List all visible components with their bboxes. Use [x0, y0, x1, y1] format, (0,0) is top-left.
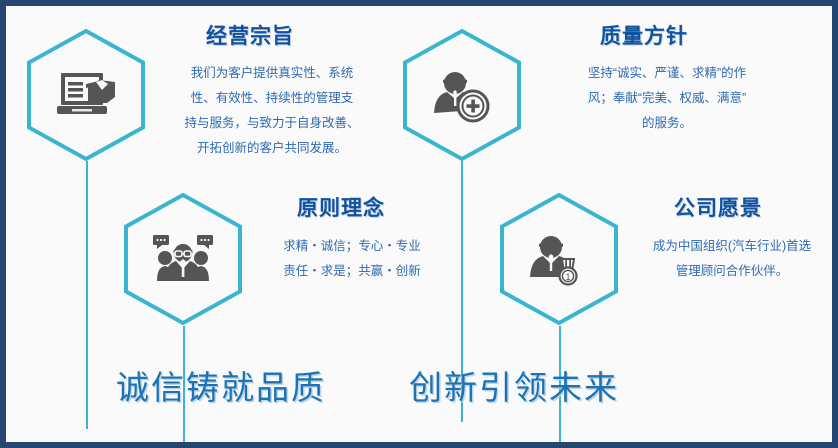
hexagon-quality-policy[interactable] — [400, 28, 524, 162]
infographic-canvas: 经营宗旨 我们为客户提供真实性、系统 性、有效性、持续性的管理支 持与服务，与致… — [0, 0, 838, 448]
slogan-integrity: 诚信铸就品质 — [116, 361, 326, 409]
card-line: 成为中国组织(汽车行业)首选 — [632, 234, 832, 259]
connector-line-1 — [86, 161, 88, 429]
card-line: 责任・求是；共赢・创新 — [252, 259, 452, 284]
card-title-company-vision: 公司愿景 — [674, 192, 762, 222]
card-line: 坚持“诚实、严谨、求精”的作 — [551, 61, 783, 86]
card-line: 持与服务，与致力于自身改善、 — [156, 111, 388, 136]
hexagon-business-purpose[interactable] — [24, 28, 148, 162]
slogan-innovation: 创新引领未来 — [409, 361, 619, 409]
hexagon-company-vision[interactable]: 1 — [497, 192, 621, 326]
card-line: 求精・诚信；专心・专业 — [252, 234, 452, 259]
card-line: 的服务。 — [551, 111, 783, 136]
card-body-principles-philosophy: 求精・诚信；专心・专业 责任・求是；共赢・创新 — [252, 234, 452, 284]
person-medal-icon: 1 — [497, 192, 621, 326]
card-title-business-purpose: 经营宗旨 — [206, 20, 294, 50]
team-chat-icon — [121, 192, 245, 326]
hexagon-principles-philosophy[interactable] — [121, 192, 245, 326]
card-title-principles-philosophy: 原则理念 — [297, 192, 385, 222]
card-line: 我们为客户提供真实性、系统 — [156, 61, 388, 86]
card-line: 性、有效性、持续性的管理支 — [156, 86, 388, 111]
card-title-quality-policy: 质量方针 — [600, 20, 688, 50]
card-body-company-vision: 成为中国组织(汽车行业)首选 管理顾问合作伙伴。 — [632, 234, 832, 284]
card-body-business-purpose: 我们为客户提供真实性、系统 性、有效性、持续性的管理支 持与服务，与致力于自身改… — [156, 61, 388, 161]
card-line: 风；奉献“完美、权威、满意” — [551, 86, 783, 111]
laptop-box-icon — [24, 28, 148, 162]
card-line: 开拓创新的客户共同发展。 — [156, 136, 388, 161]
svg-text:1: 1 — [565, 272, 570, 282]
card-line: 管理顾问合作伙伴。 — [632, 259, 832, 284]
card-body-quality-policy: 坚持“诚实、严谨、求精”的作 风；奉献“完美、权威、满意” 的服务。 — [551, 61, 783, 136]
person-plus-icon — [400, 28, 524, 162]
